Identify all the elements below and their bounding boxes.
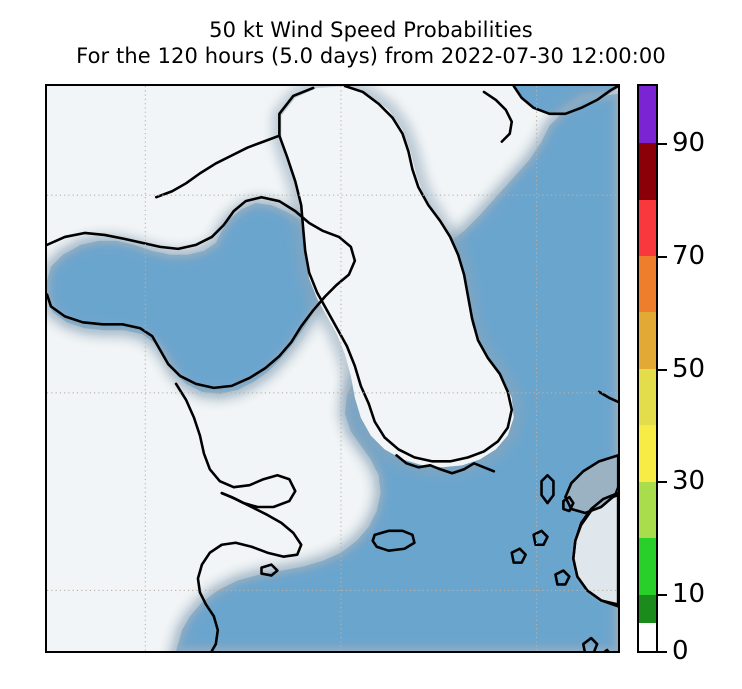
page-subtitle: For the 120 hours (5.0 days) from 2022-0… xyxy=(0,43,742,70)
chart-title-block: 50 kt Wind Speed Probabilities For the 1… xyxy=(0,0,742,70)
colorbar-tick-70 xyxy=(658,256,667,258)
colorbar-tick-group: 01030507090 xyxy=(658,84,742,653)
colorbar-band-30-40 xyxy=(639,425,656,482)
colorbar-band-70-80 xyxy=(639,199,656,256)
colorbar-label-90: 90 xyxy=(672,130,705,156)
colorbar-band-40-50 xyxy=(639,368,656,425)
colorbar-label-50: 50 xyxy=(672,356,705,382)
colorbar-band-90-100 xyxy=(639,86,656,143)
map-plot-area[interactable] xyxy=(45,84,620,653)
colorbar-band-0-5 xyxy=(639,622,656,651)
colorbar-tick-30 xyxy=(658,481,667,483)
colorbar-band-80-90 xyxy=(639,142,656,199)
colorbar-label-0: 0 xyxy=(672,638,689,664)
colorbar[interactable] xyxy=(637,84,658,653)
colorbar-label-70: 70 xyxy=(672,243,705,269)
colorbar-tick-10 xyxy=(658,594,667,596)
colorbar-band-50-60 xyxy=(639,312,656,369)
colorbar-label-30: 30 xyxy=(672,468,705,494)
colorbar-tick-90 xyxy=(658,143,667,145)
colorbar-label-10: 10 xyxy=(672,581,705,607)
colorbar-tick-50 xyxy=(658,369,667,371)
colorbar-band-5-10 xyxy=(639,594,656,623)
map-svg xyxy=(47,86,618,651)
colorbar-band-10-20 xyxy=(639,538,656,595)
colorbar-band-60-70 xyxy=(639,255,656,312)
colorbar-band-20-30 xyxy=(639,481,656,538)
page-title: 50 kt Wind Speed Probabilities xyxy=(0,17,742,43)
colorbar-tick-0 xyxy=(658,651,667,653)
